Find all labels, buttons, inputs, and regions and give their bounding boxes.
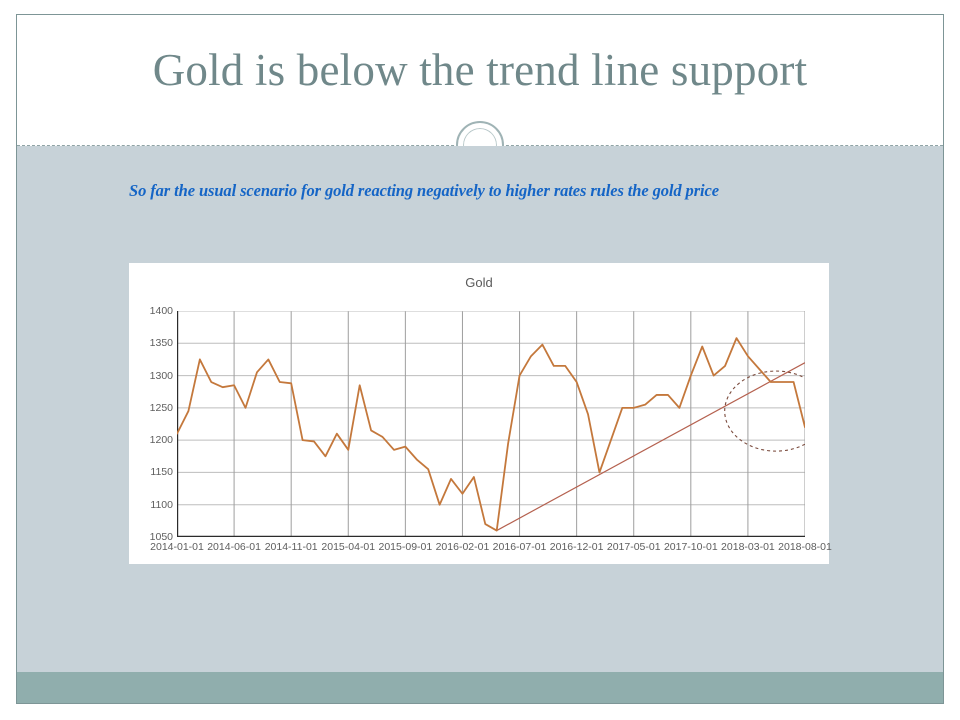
x-axis-tick-label: 2016-02-01: [436, 541, 490, 553]
subtitle-text: So far the usual scenario for gold react…: [129, 181, 919, 201]
x-axis-tick-label: 2015-04-01: [321, 541, 375, 553]
footer-band: [17, 672, 943, 703]
x-axis-tick-label: 2014-11-01: [265, 541, 318, 553]
plot-area: 10501100115012001250130013501400 2014-01…: [177, 311, 805, 537]
plot-frame: [177, 311, 805, 537]
x-axis-tick-label: 2014-01-01: [150, 541, 204, 553]
x-axis-tick-label: 2018-03-01: [721, 541, 775, 553]
chart-title: Gold: [129, 275, 829, 290]
x-axis-tick-label: 2015-09-01: [379, 541, 433, 553]
x-axis-tick-label: 2014-06-01: [207, 541, 261, 553]
vertical-gridlines: [234, 311, 748, 537]
page-title: Gold is below the trend line support: [17, 43, 943, 97]
x-axis-tick-label: 2018-08-01: [778, 541, 832, 553]
chart-panel: Gold 10501100115012001250130013501400 20…: [129, 263, 829, 564]
x-axis-tick-label: 2016-07-01: [493, 541, 547, 553]
y-axis-tick-label: 1100: [150, 499, 173, 511]
x-axis-tick-label: 2016-12-01: [550, 541, 604, 553]
x-axis-tick-label: 2017-10-01: [664, 541, 718, 553]
slide-body: So far the usual scenario for gold react…: [17, 146, 943, 672]
chart-svg: [177, 311, 805, 537]
x-axis-tick-label: 2017-05-01: [607, 541, 661, 553]
y-axis-tick-label: 1350: [150, 337, 173, 349]
gold-price-line: [177, 338, 805, 530]
y-axis-tick-label: 1200: [150, 434, 173, 446]
trend-line-support: [497, 363, 805, 531]
slide: Gold is below the trend line support So …: [16, 14, 944, 704]
y-axis-tick-label: 1150: [150, 466, 173, 478]
y-axis-tick-label: 1250: [150, 402, 173, 414]
y-axis-tick-label: 1400: [150, 305, 173, 317]
y-axis-tick-label: 1300: [150, 370, 173, 382]
